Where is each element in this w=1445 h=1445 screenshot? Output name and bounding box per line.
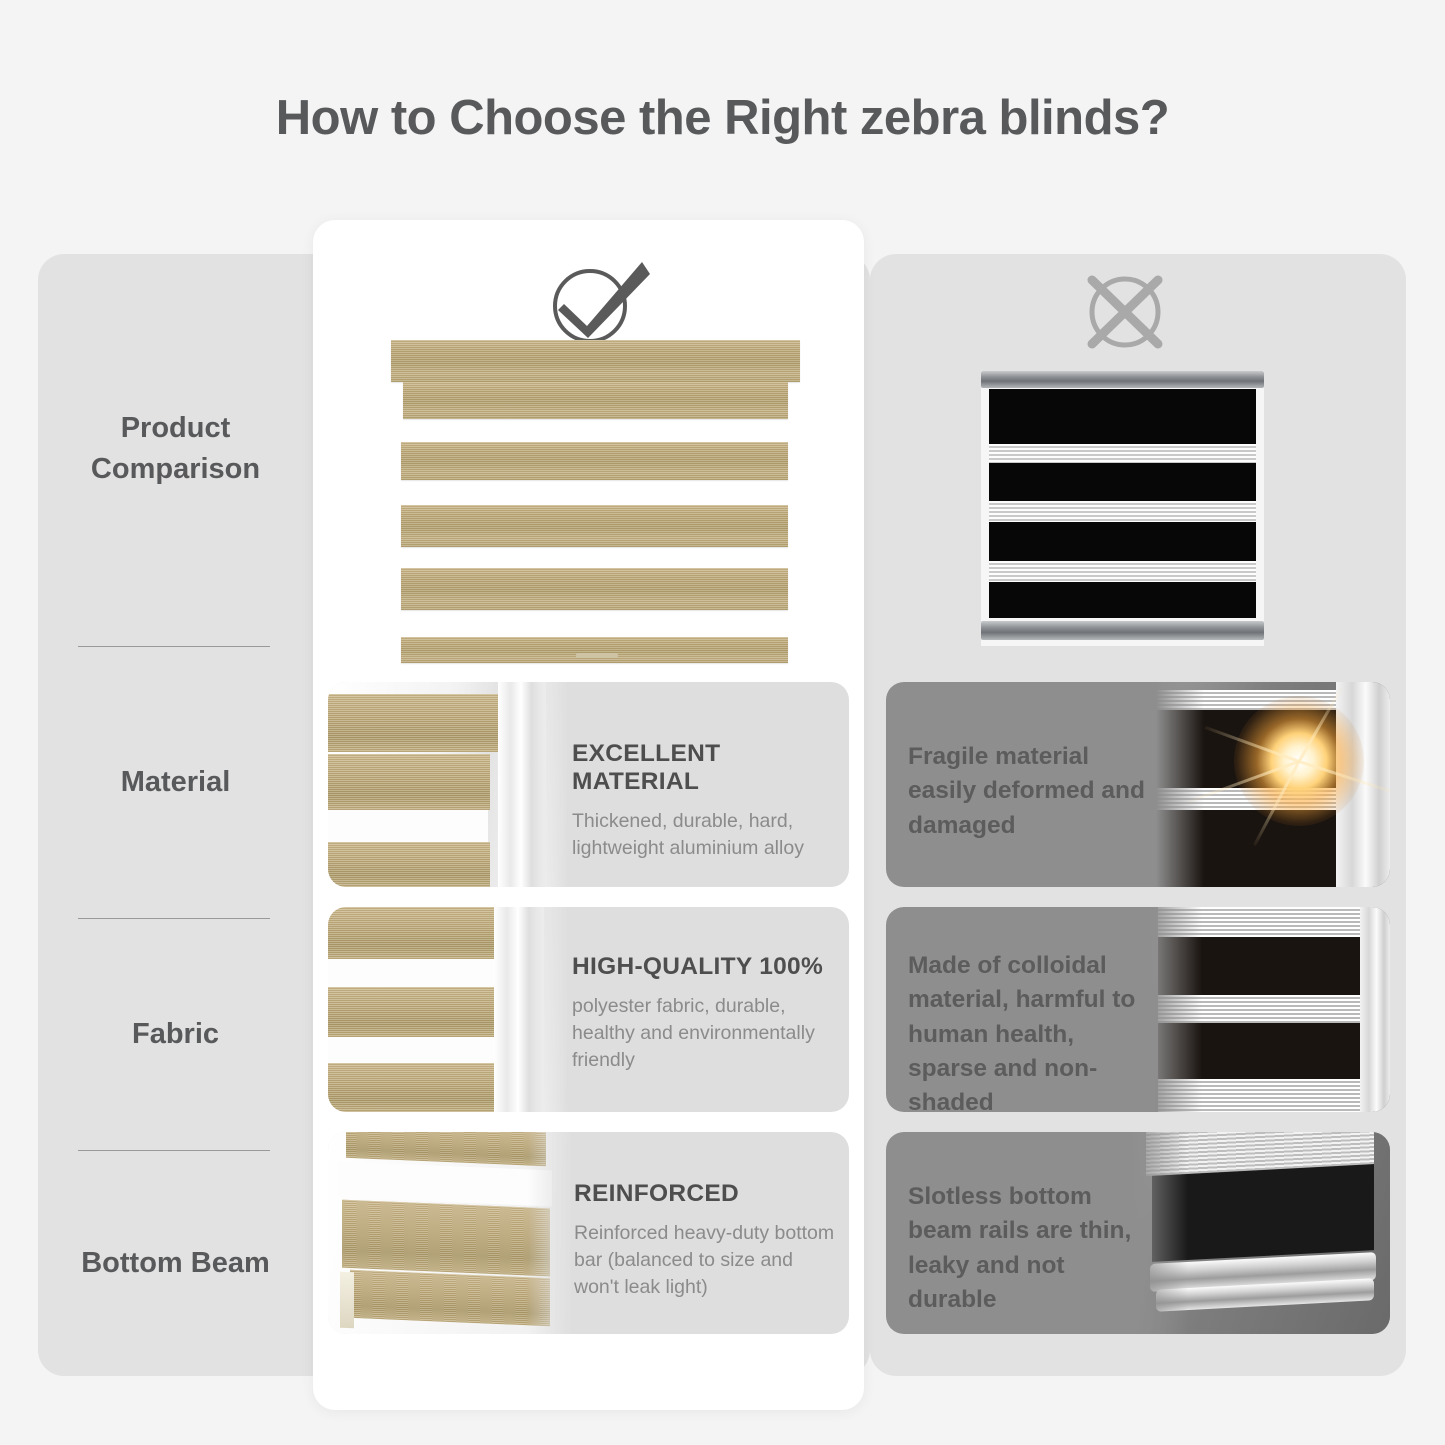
sidebar-item-label: Bottom Beam — [81, 1243, 270, 1284]
bottom-beam-bad-text: Slotless bottom beam rails are thin, lea… — [908, 1180, 1146, 1317]
sidebar-item-label: Material — [121, 762, 231, 803]
bottom-beam-good-heading: REINFORCED — [574, 1180, 842, 1208]
bottom-beam-good-card: REINFORCED Reinforced heavy-duty bottom … — [328, 1132, 849, 1334]
fabric-good-body: polyester fabric, durable, healthy and e… — [572, 993, 840, 1074]
infographic-root: How to Choose the Right zebra blinds? Pr… — [0, 0, 1445, 1445]
cross-circle-icon — [1078, 268, 1173, 356]
material-bad-text: Fragile material easily deformed and dam… — [908, 740, 1158, 843]
material-bad-card: Fragile material easily deformed and dam… — [886, 682, 1390, 887]
sidebar-divider — [78, 918, 270, 919]
sidebar-item-label: Product Comparison — [38, 408, 313, 490]
material-good-card: EXCELLENT MATERIAL Thickened, durable, h… — [328, 682, 849, 887]
material-good-heading: EXCELLENT MATERIAL — [572, 740, 834, 796]
page-title: How to Choose the Right zebra blinds? — [0, 90, 1445, 146]
check-circle-icon — [538, 252, 656, 347]
category-sidebar: Product Comparison Material Fabric Botto… — [38, 254, 313, 1376]
sidebar-item-fabric[interactable]: Fabric — [38, 920, 313, 1150]
bottom-beam-good-body: Reinforced heavy-duty bottom bar (balanc… — [574, 1220, 842, 1301]
fabric-bad-text: Made of colloidal material, harmful to h… — [908, 949, 1158, 1112]
fabric-good-card: HIGH-QUALITY 100% polyester fabric, dura… — [328, 907, 849, 1112]
bad-hero-image — [981, 371, 1264, 646]
sidebar-divider — [78, 1150, 270, 1151]
bottom-beam-bad-card: Slotless bottom beam rails are thin, lea… — [886, 1132, 1390, 1334]
sidebar-item-material[interactable]: Material — [38, 648, 313, 918]
sidebar-item-label: Fabric — [132, 1014, 219, 1055]
sidebar-item-product-comparison[interactable]: Product Comparison — [38, 254, 313, 644]
fabric-bad-card: Made of colloidal material, harmful to h… — [886, 907, 1390, 1112]
material-good-body: Thickened, durable, hard, lightweight al… — [572, 808, 834, 862]
sidebar-item-bottom-beam[interactable]: Bottom Beam — [38, 1152, 313, 1376]
sidebar-divider — [78, 646, 270, 647]
fabric-good-heading: HIGH-QUALITY 100% — [572, 953, 840, 981]
good-hero-image — [391, 340, 800, 665]
